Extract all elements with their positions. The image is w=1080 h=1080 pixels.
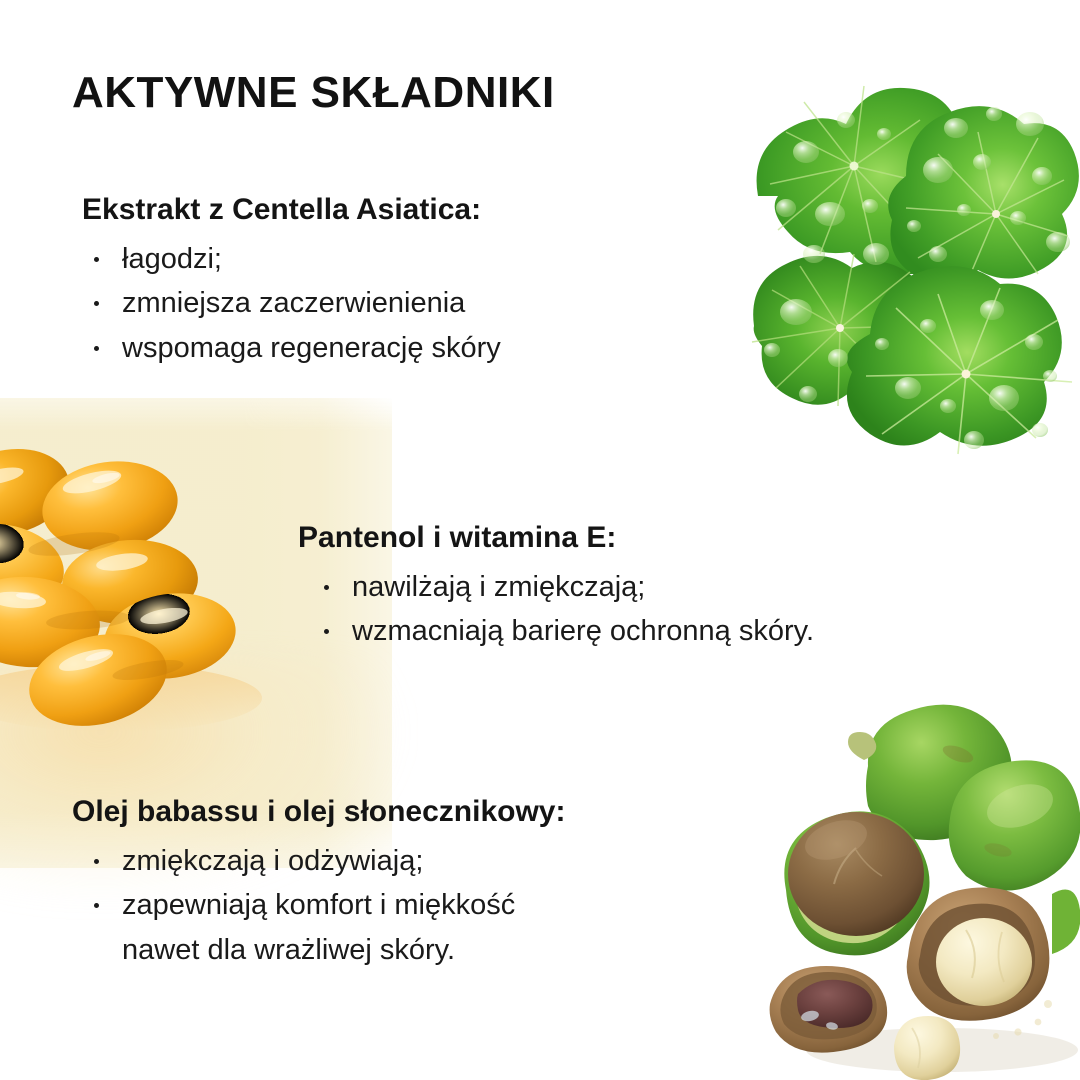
list-item: zapewniają komfort i miękkość nawet dla … bbox=[72, 883, 565, 971]
list-item: zmiękczają i odżywiają; bbox=[72, 839, 565, 883]
list-item: wzmacniają barierę ochronną skóry. bbox=[298, 609, 814, 653]
list-item: łagodzi; bbox=[72, 237, 501, 281]
ingredient-block-centella: Ekstrakt z Centella Asiatica: łagodzi; z… bbox=[72, 192, 501, 370]
centella-leaves-photo bbox=[742, 58, 1080, 458]
ingredient-heading-centella: Ekstrakt z Centella Asiatica: bbox=[82, 192, 501, 227]
ingredient-block-oils: Olej babassu i olej słonecznikowy: zmięk… bbox=[72, 794, 565, 972]
ingredient-heading-oils: Olej babassu i olej słonecznikowy: bbox=[72, 794, 565, 829]
oil-capsules-photo bbox=[0, 440, 312, 740]
babassu-nuts-photo bbox=[752, 698, 1080, 1080]
ingredient-benefits-oils: zmiękczają i odżywiają; zapewniają komfo… bbox=[72, 839, 565, 971]
ingredient-heading-pantenol: Pantenol i witamina E: bbox=[298, 520, 814, 555]
page-title: AKTYWNE SKŁADNIKI bbox=[72, 68, 555, 118]
poster-canvas: AKTYWNE SKŁADNIKI Ekstrakt z Centella As… bbox=[0, 0, 1080, 1080]
list-item: wspomaga regenerację skóry bbox=[72, 326, 501, 370]
list-item: zmniejsza zaczerwienienia bbox=[72, 281, 501, 325]
ingredient-block-pantenol: Pantenol i witamina E: nawilżają i zmięk… bbox=[298, 520, 814, 654]
list-item: nawilżają i zmiękczają; bbox=[298, 565, 814, 609]
ingredient-benefits-centella: łagodzi; zmniejsza zaczerwienienia wspom… bbox=[72, 237, 501, 369]
ingredient-benefits-pantenol: nawilżają i zmiękczają; wzmacniają barie… bbox=[298, 565, 814, 653]
